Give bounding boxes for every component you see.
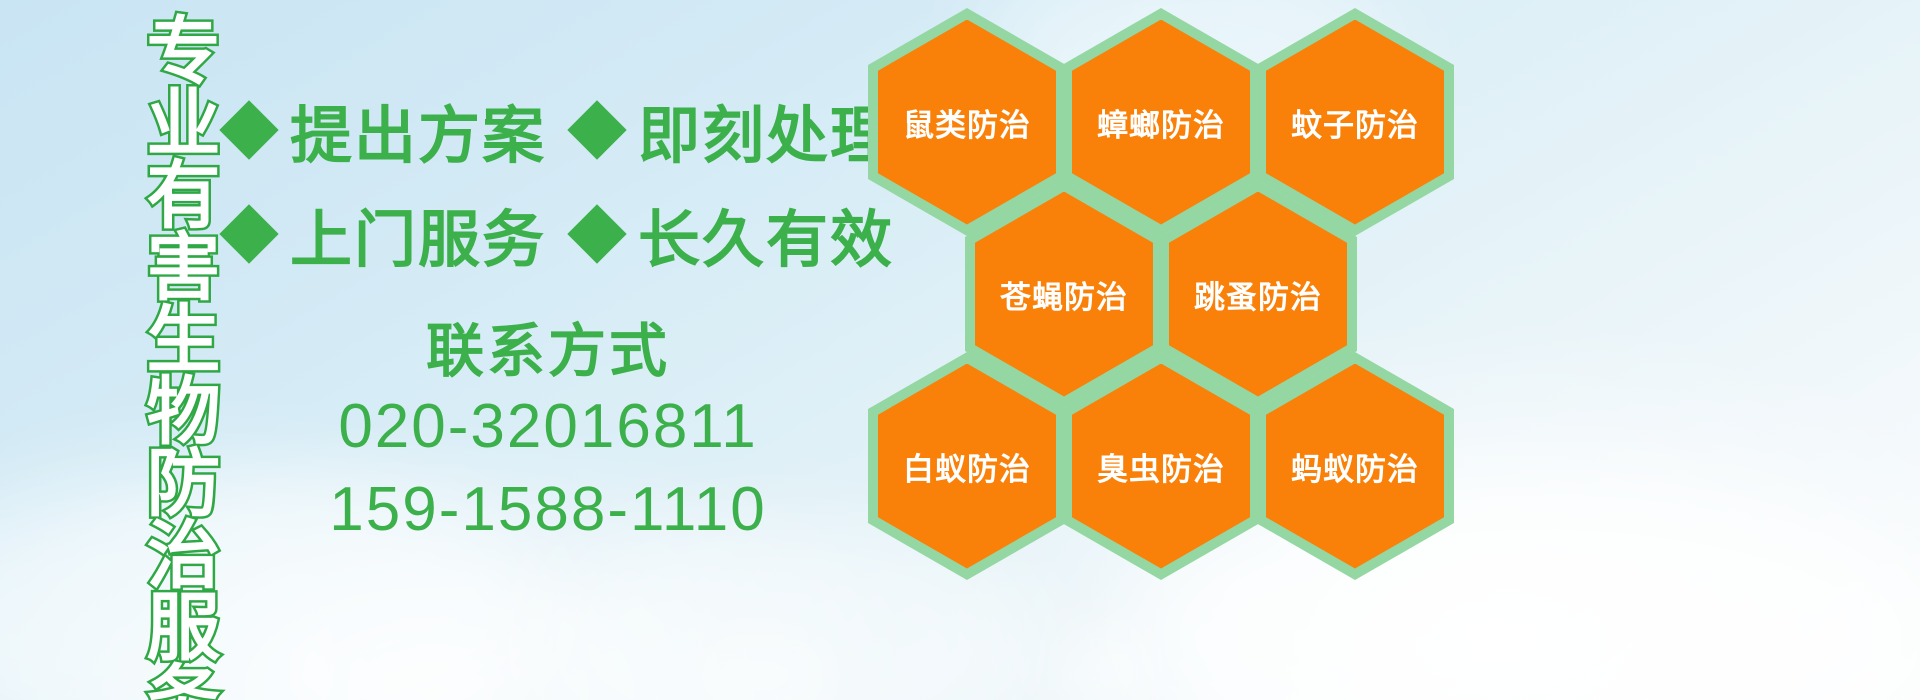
contact-block: 联系方式 020-32016811 159-1588-1110	[228, 318, 868, 551]
hex-inner: 白蚁防治	[878, 364, 1056, 569]
hex-inner: 蟑螂防治	[1072, 20, 1250, 225]
diamond-icon	[219, 204, 278, 263]
hex-inner: 蚊子防治	[1266, 20, 1444, 225]
hex-inner: 苍蝇防治	[975, 192, 1153, 397]
service-label: 蟑螂防治	[1097, 100, 1225, 145]
pest-control-banner: 专业有害生物防治服务 提出方案 即刻处理 上门服务 长久有效 联系方式 020-…	[0, 0, 1920, 700]
background-streak	[300, 560, 326, 700]
hex-inner: 蚂蚁防治	[1266, 364, 1444, 569]
service-label: 鼠类防治	[903, 100, 1031, 145]
background-streak	[700, 620, 820, 700]
service-honeycomb: 鼠类防治 蟑螂防治 蚊子防治 苍蝇防治 跳蚤防治 白蚁防治	[862, 0, 1462, 585]
background-streak	[1060, 600, 1150, 700]
phone-number-mobile[interactable]: 159-1588-1110	[228, 469, 868, 551]
service-label: 跳蚤防治	[1194, 272, 1322, 317]
hex-inner: 跳蚤防治	[1169, 192, 1347, 397]
hex-inner: 臭虫防治	[1072, 364, 1250, 569]
feature-label: 长久有效	[638, 189, 894, 279]
vertical-headline: 专业有害生物防治服务	[108, 12, 212, 572]
diamond-icon	[567, 204, 626, 263]
feature-list: 提出方案 即刻处理 上门服务 长久有效	[228, 78, 868, 286]
service-label: 苍蝇防治	[1000, 272, 1128, 317]
feature-label: 提出方案	[290, 85, 546, 175]
service-label: 臭虫防治	[1097, 444, 1225, 489]
service-label: 蚂蚁防治	[1291, 444, 1419, 489]
phone-number-landline[interactable]: 020-32016811	[228, 386, 868, 468]
diamond-icon	[219, 100, 278, 159]
service-label: 蚊子防治	[1291, 100, 1419, 145]
feature-label: 上门服务	[290, 189, 546, 279]
hex-inner: 鼠类防治	[878, 20, 1056, 225]
feature-row-2: 上门服务 长久有效	[228, 182, 868, 286]
background-streak	[352, 600, 368, 700]
service-label: 白蚁防治	[903, 444, 1031, 489]
feature-label: 即刻处理	[638, 85, 894, 175]
contact-label: 联系方式	[228, 318, 868, 386]
feature-row-1: 提出方案 即刻处理	[228, 78, 868, 182]
diamond-icon	[567, 100, 626, 159]
